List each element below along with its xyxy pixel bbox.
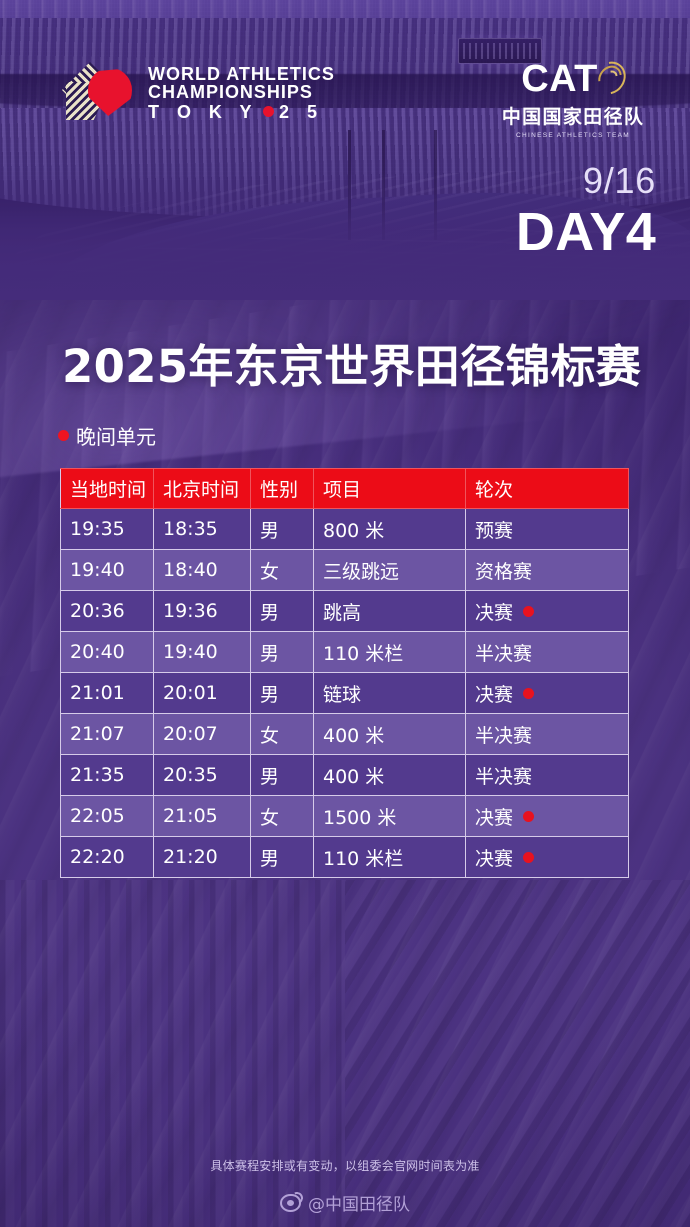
cell-round: 半决赛 [466, 632, 629, 673]
cell-event: 110 米栏 [314, 837, 466, 878]
column-header-gender: 性别 [251, 469, 314, 509]
cell-gender: 女 [251, 796, 314, 837]
schedule-table-body: 19:3518:35男800 米预赛19:4018:40女三级跳远资格赛20:3… [61, 509, 629, 878]
round-content: 决赛 [475, 680, 619, 707]
cell-gender: 男 [251, 673, 314, 714]
section-label-text: 晚间单元 [76, 421, 156, 450]
cell-beijing-time: 19:36 [154, 591, 251, 632]
cell-round: 决赛 [466, 837, 629, 878]
table-row: 21:0720:07女400 米半决赛 [61, 714, 629, 755]
world-athletics-wordmark: WORLD ATHLETICS CHAMPIONSHIPS T O K Y 2 … [148, 65, 335, 121]
cell-beijing-time: 20:07 [154, 714, 251, 755]
cat-letters: CAT [521, 60, 597, 98]
round-content: 决赛 [475, 844, 619, 871]
cat-swirl-icon [595, 60, 625, 98]
wa-red-dot-icon [263, 106, 274, 117]
round-content: 半决赛 [475, 721, 619, 748]
cell-round: 决赛 [466, 673, 629, 714]
cell-gender: 女 [251, 714, 314, 755]
wa-tokyo-text: T O K Y [148, 103, 258, 121]
wa-line-world-athletics: WORLD ATHLETICS [148, 65, 335, 83]
schedule-table-wrapper: 当地时间 北京时间 性别 项目 轮次 19:3518:35男800 米预赛19:… [60, 468, 629, 878]
cell-beijing-time: 21:20 [154, 837, 251, 878]
page-title: 2025年东京世界田径锦标赛 [62, 330, 641, 395]
weibo-icon [280, 1194, 301, 1212]
date-fraction: 9/16 [516, 163, 656, 199]
table-row: 21:0120:01男链球决赛 [61, 673, 629, 714]
round-label: 半决赛 [475, 762, 532, 789]
wa-line-championships: CHAMPIONSHIPS [148, 83, 335, 101]
column-header-local-time: 当地时间 [61, 469, 154, 509]
table-row: 19:4018:40女三级跳远资格赛 [61, 550, 629, 591]
round-label: 决赛 [475, 680, 513, 707]
round-content: 决赛 [475, 803, 619, 830]
date-block: 9/16 DAY4 [516, 163, 656, 260]
cell-beijing-time: 21:05 [154, 796, 251, 837]
cell-round: 半决赛 [466, 714, 629, 755]
cell-local-time: 21:07 [61, 714, 154, 755]
round-content: 半决赛 [475, 762, 619, 789]
column-header-beijing-time: 北京时间 [154, 469, 251, 509]
cell-local-time: 20:40 [61, 632, 154, 673]
cat-mark: CAT [488, 58, 658, 100]
round-label: 决赛 [475, 844, 513, 871]
round-content: 资格赛 [475, 557, 619, 584]
cat-english-name: CHINESE ATHLETICS TEAM [488, 132, 658, 139]
schedule-table-head: 当地时间 北京时间 性别 项目 轮次 [61, 469, 629, 509]
medal-event-dot-icon [523, 606, 534, 617]
section-bullet-icon [58, 430, 69, 441]
cell-local-time: 22:05 [61, 796, 154, 837]
poster-root: WORLD ATHLETICS CHAMPIONSHIPS T O K Y 2 … [0, 0, 690, 1227]
round-label: 决赛 [475, 803, 513, 830]
cell-gender: 男 [251, 755, 314, 796]
cell-event: 1500 米 [314, 796, 466, 837]
cell-beijing-time: 18:35 [154, 509, 251, 550]
column-header-round: 轮次 [466, 469, 629, 509]
cell-event: 400 米 [314, 714, 466, 755]
cell-local-time: 19:35 [61, 509, 154, 550]
table-header-row: 当地时间 北京时间 性别 项目 轮次 [61, 469, 629, 509]
cell-event: 800 米 [314, 509, 466, 550]
table-row: 20:4019:40男110 米栏半决赛 [61, 632, 629, 673]
schedule-table: 当地时间 北京时间 性别 项目 轮次 19:3518:35男800 米预赛19:… [60, 468, 629, 878]
cell-event: 110 米栏 [314, 632, 466, 673]
cell-gender: 女 [251, 550, 314, 591]
cell-beijing-time: 20:35 [154, 755, 251, 796]
section-header-evening: 晚间单元 [58, 421, 156, 450]
world-athletics-logo: WORLD ATHLETICS CHAMPIONSHIPS T O K Y 2 … [62, 62, 335, 124]
round-label: 决赛 [475, 598, 513, 625]
cell-round: 决赛 [466, 591, 629, 632]
round-label: 半决赛 [475, 721, 532, 748]
medal-event-dot-icon [523, 852, 534, 863]
cell-gender: 男 [251, 632, 314, 673]
date-day-label: DAY4 [516, 205, 656, 260]
cell-event: 跳高 [314, 591, 466, 632]
cell-round: 资格赛 [466, 550, 629, 591]
column-header-event: 项目 [314, 469, 466, 509]
cell-round: 半决赛 [466, 755, 629, 796]
round-content: 预赛 [475, 516, 619, 543]
cell-beijing-time: 18:40 [154, 550, 251, 591]
weibo-watermark: @中国田径队 [0, 1190, 690, 1215]
medal-event-dot-icon [523, 811, 534, 822]
cell-round: 预赛 [466, 509, 629, 550]
round-label: 半决赛 [475, 639, 532, 666]
cell-gender: 男 [251, 591, 314, 632]
cell-local-time: 19:40 [61, 550, 154, 591]
round-content: 决赛 [475, 598, 619, 625]
cell-gender: 男 [251, 509, 314, 550]
cell-round: 决赛 [466, 796, 629, 837]
table-row: 22:2021:20男110 米栏决赛 [61, 837, 629, 878]
table-row: 22:0521:05女1500 米决赛 [61, 796, 629, 837]
cat-chinese-name: 中国国家田径队 [488, 102, 658, 129]
cell-beijing-time: 20:01 [154, 673, 251, 714]
cell-local-time: 21:35 [61, 755, 154, 796]
weibo-handle: @中国田径队 [308, 1190, 410, 1215]
cell-event: 400 米 [314, 755, 466, 796]
wa-year-text: 2 5 [279, 103, 323, 121]
chinese-athletics-team-logo: CAT 中国国家田径队 CHINESE ATHLETICS TEAM [488, 58, 658, 139]
round-content: 半决赛 [475, 639, 619, 666]
cell-event: 三级跳远 [314, 550, 466, 591]
round-label: 预赛 [475, 516, 513, 543]
cell-beijing-time: 19:40 [154, 632, 251, 673]
cell-local-time: 20:36 [61, 591, 154, 632]
cell-gender: 男 [251, 837, 314, 878]
table-row: 19:3518:35男800 米预赛 [61, 509, 629, 550]
world-athletics-mark-icon [62, 62, 136, 124]
cell-event: 链球 [314, 673, 466, 714]
cell-local-time: 21:01 [61, 673, 154, 714]
medal-event-dot-icon [523, 688, 534, 699]
table-row: 20:3619:36男跳高决赛 [61, 591, 629, 632]
cell-local-time: 22:20 [61, 837, 154, 878]
round-label: 资格赛 [475, 557, 532, 584]
wa-line-tokyo25: T O K Y 2 5 [148, 103, 335, 121]
footer-disclaimer: 具体赛程安排或有变动，以组委会官网时间表为准 [0, 1157, 690, 1174]
table-row: 21:3520:35男400 米半决赛 [61, 755, 629, 796]
